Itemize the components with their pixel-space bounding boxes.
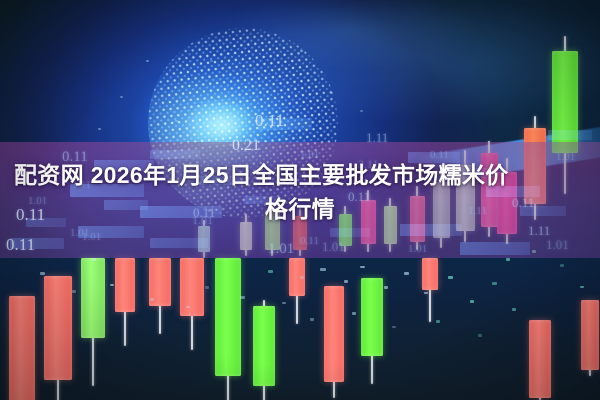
banner-image: 0.110.211.113.110.111.111.010.111.010.11…	[0, 0, 600, 400]
vignette-overlay	[0, 0, 600, 400]
